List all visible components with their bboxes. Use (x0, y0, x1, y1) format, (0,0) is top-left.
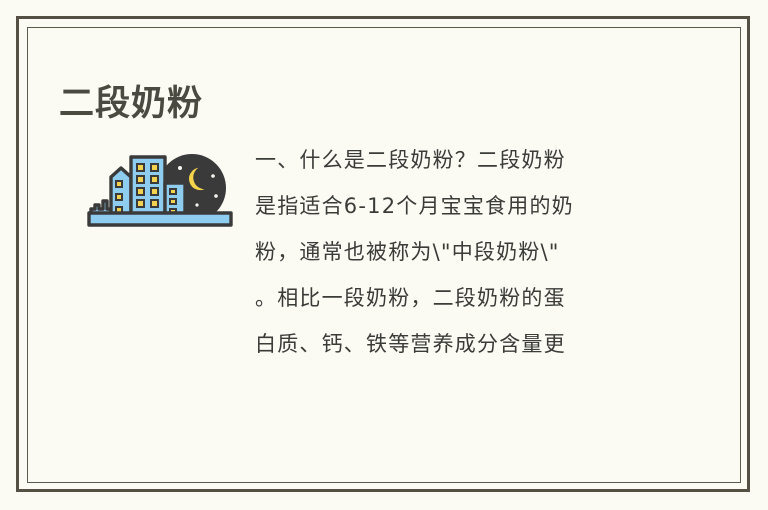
page-title: 二段奶粉 (59, 82, 203, 126)
article-paragraph: 一、什么是二段奶粉？二段奶粉 是指适合6-12个月宝宝食用的奶 粉，通常也被称为… (255, 137, 683, 367)
article-line: 白质、钙、铁等营养成分含量更 (255, 321, 683, 367)
page-content: 二段奶粉 (27, 27, 741, 483)
article-line: 是指适合6-12个月宝宝食用的奶 (255, 183, 683, 229)
night-city-illustration (85, 151, 237, 231)
article-line: 粉，通常也被称为\"中段奶粉\" (255, 229, 683, 275)
article-line: 一、什么是二段奶粉？二段奶粉 (255, 137, 683, 183)
article-line: 。相比一段奶粉，二段奶粉的蛋 (255, 275, 683, 321)
article-page: 二段奶粉 (0, 0, 768, 510)
